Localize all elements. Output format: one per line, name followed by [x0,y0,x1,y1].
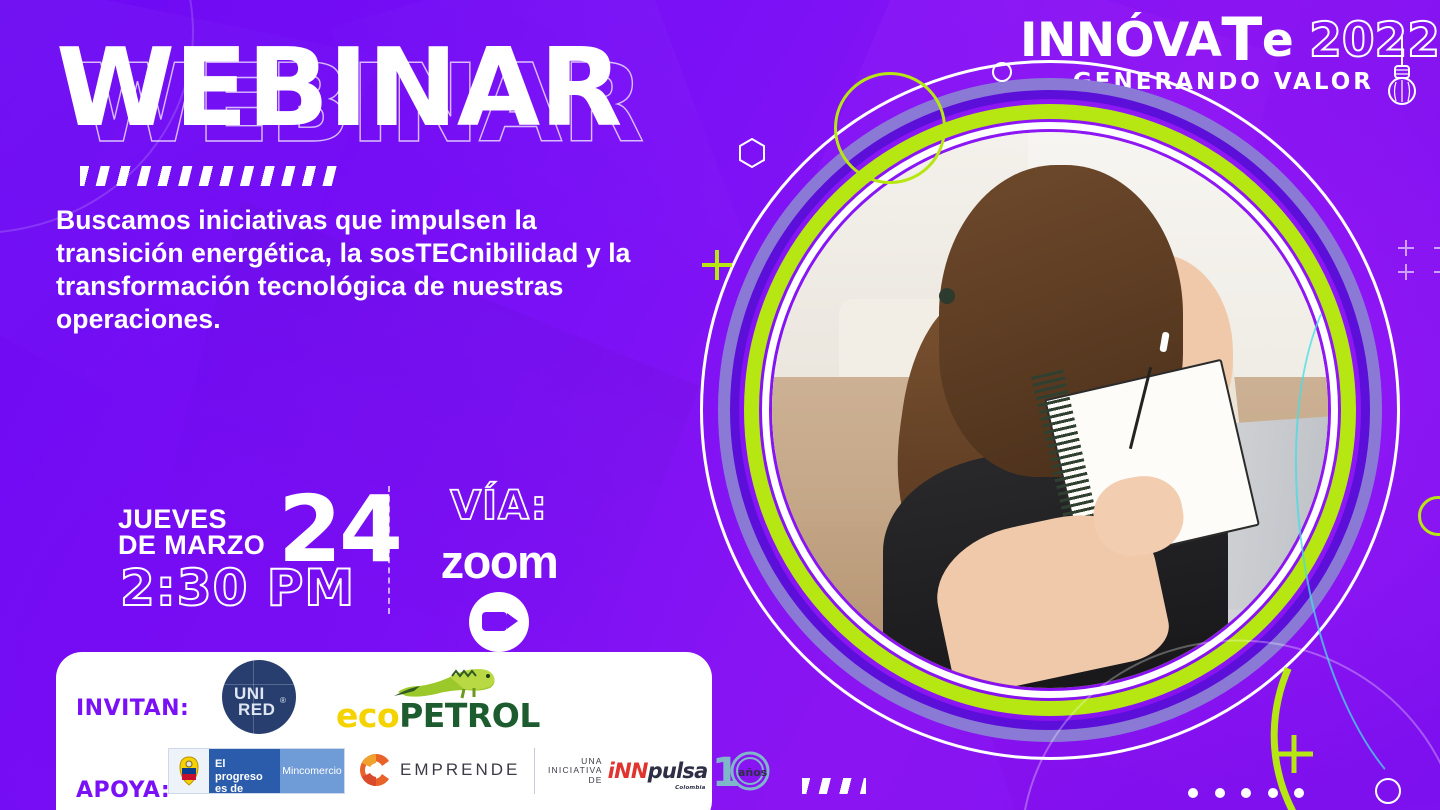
dot [1215,788,1225,798]
innpulsa-prefix-l3: DE [548,776,603,786]
slash-divider [80,166,338,186]
event-logo-title: INNÓVATe 2022 [1020,16,1420,65]
innpulsa-inn: iNN [608,759,648,783]
unired-registered-mark: ® [280,696,286,705]
sponsors-card: INVITAN: APOYA: UNI RED ® ecoPETROL [56,652,712,810]
photo-hair-tie [939,288,955,304]
event-month: DE MARZO [118,532,298,558]
page-title: WEBINAR [56,34,622,144]
camera-body [482,612,507,631]
plus-grid-icon [1396,238,1440,282]
photo-medallion [700,60,1400,760]
innpulsa-prefix: UNA INICIATIVA DE [548,757,603,786]
ecopetrol-wordmark: ecoPETROL [336,696,540,735]
event-time: 2:30 PM [120,562,355,614]
zoom-wordmark: zoom [424,538,574,586]
svg-text:años: años [738,766,768,779]
colombia-coat-of-arms-icon [169,749,209,793]
c-mark-icon [358,752,394,788]
woman-with-earbuds-notebook-laptop-photo [772,132,1328,688]
mincomercio-slogan: El progreso es de todos [209,749,280,793]
dot [1241,788,1251,798]
mincomercio-name: Mincomercio [280,749,344,793]
emprende-wordmark: EMPRENDE [400,760,520,780]
unired-line2: RED [238,700,275,720]
dot [1268,788,1278,798]
dot-row [1188,788,1304,798]
dot [1188,788,1198,798]
event-day-name: JUEVES [118,506,298,532]
webinar-poster: INNÓVATe 2022 GENERANDO VALOR WEBINAR WE… [0,0,1440,810]
via-label: VÍA: [424,484,574,528]
emprende-logo: EMPRENDE [358,752,520,788]
innpulsa-wordmark: iNNpulsaColombia [608,759,708,783]
innpulsa-country: Colombia [675,785,705,791]
logo-divider [534,748,535,794]
apoya-label: APOYA: [76,778,170,803]
unired-logo: UNI RED ® [222,660,296,734]
hero-description: Buscamos iniciativas que impulsen la tra… [56,204,656,336]
ecopetrol-eco: eco [336,696,399,735]
event-date-block: JUEVES DE MARZO 24 2:30 PM [118,492,398,622]
decorative-circle-lime [1418,496,1440,536]
slash-decoration [802,778,866,794]
decorative-circle-white [1375,778,1401,804]
mincomercio-logo: El progreso es de todos Mincomercio [168,748,345,794]
ecopetrol-petrol: PETROL [399,696,540,735]
innpulsa-pulsa: pulsa [648,759,708,783]
event-platform-block: VÍA: zoom [424,484,574,652]
dot [1294,788,1304,798]
invitan-label: INVITAN: [76,696,189,721]
event-day-label: JUEVES DE MARZO [118,506,298,558]
camera-lens [507,613,518,629]
vertical-dashed-divider [388,486,390,614]
ecopetrol-logo: ecoPETROL [336,670,516,732]
webinar-title-block: WEBINAR WEBINAR [56,34,696,154]
video-camera-icon [469,592,529,652]
